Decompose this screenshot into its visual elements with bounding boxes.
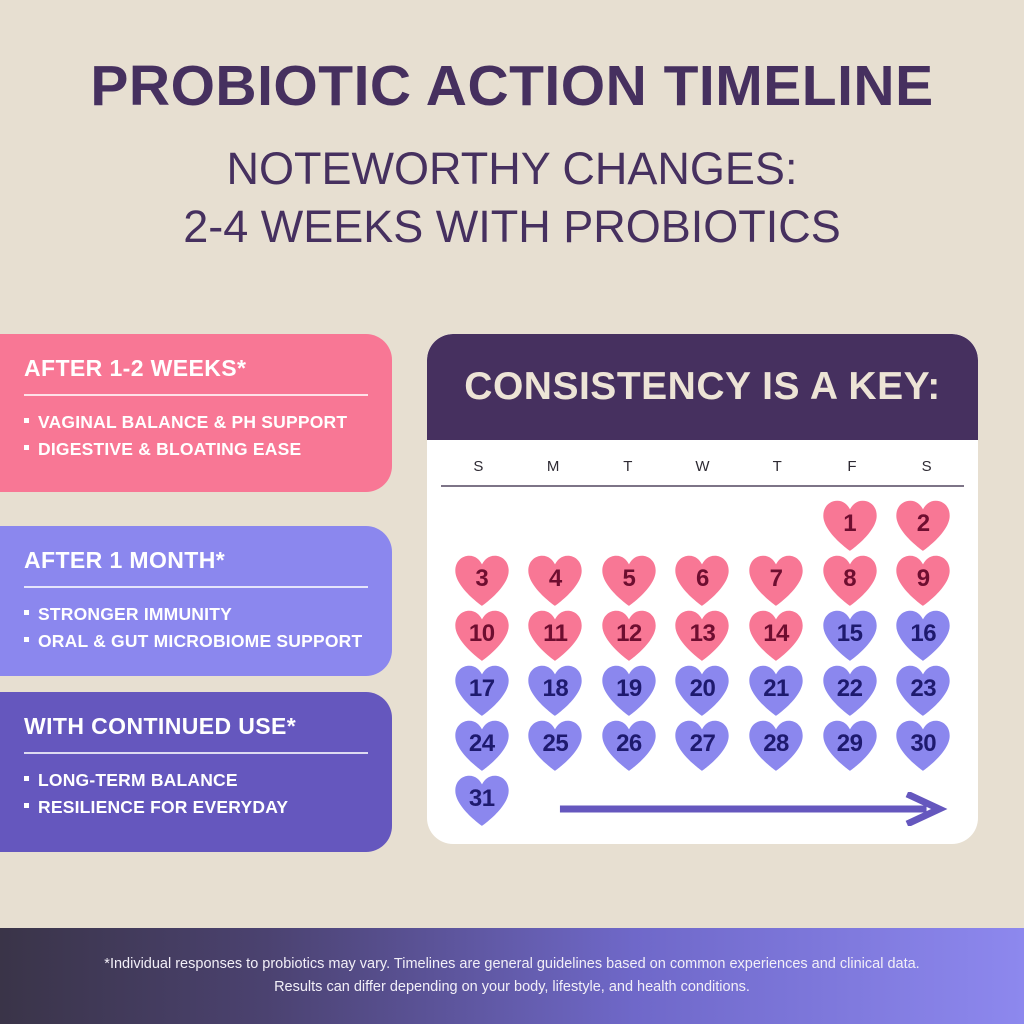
list-item: LONG-TERM BALANCE xyxy=(24,767,392,794)
disclaimer-text: *Individual responses to probiotics may … xyxy=(104,953,919,1000)
calendar-day-cell[interactable]: 24 xyxy=(445,719,519,772)
heart-icon-day-16: 16 xyxy=(894,609,952,662)
calendar-empty-cell xyxy=(445,499,519,552)
calendar-progress-row xyxy=(445,781,960,837)
calendar-day-number: 31 xyxy=(469,787,495,811)
card-title: WITH CONTINUED USE* xyxy=(24,714,392,739)
calendar-day-number: 23 xyxy=(910,677,936,701)
heart-icon-day-14: 14 xyxy=(747,609,805,662)
calendar-day-number: 30 xyxy=(910,732,936,756)
calendar-day-cell[interactable]: 27 xyxy=(666,719,740,772)
calendar-day-cell[interactable]: 4 xyxy=(519,554,593,607)
calendar-weekday-row: SMTWTFS xyxy=(441,440,964,485)
calendar-day-cell[interactable]: 11 xyxy=(519,609,593,662)
heart-icon-day-12: 12 xyxy=(600,609,658,662)
calendar-panel-header: CONSISTENCY IS A KEY: xyxy=(427,334,978,440)
calendar-day-number: 24 xyxy=(469,732,495,756)
heart-icon-day-29: 29 xyxy=(821,719,879,772)
infographic-root: PROBIOTIC ACTION TIMELINE NOTEWORTHY CHA… xyxy=(0,0,1024,1024)
heart-icon-day-6: 6 xyxy=(673,554,731,607)
calendar-day-number: 15 xyxy=(837,622,863,646)
list-item: ORAL & GUT MICROBIOME SUPPORT xyxy=(24,628,392,655)
heart-icon-day-11: 11 xyxy=(526,609,584,662)
calendar-weekday-6: S xyxy=(889,458,964,475)
calendar-day-number: 17 xyxy=(469,677,495,701)
calendar-heading: CONSISTENCY IS A KEY: xyxy=(464,365,940,409)
calendar-day-number: 26 xyxy=(616,732,642,756)
heart-icon-day-18: 18 xyxy=(526,664,584,717)
heart-icon-day-2: 2 xyxy=(894,499,952,552)
footer-disclaimer: *Individual responses to probiotics may … xyxy=(0,928,1024,1024)
timeline-card-with-continued-use: WITH CONTINUED USE* LONG-TERM BALANCE RE… xyxy=(0,692,392,852)
card-divider xyxy=(24,586,368,588)
heart-icon-day-3: 3 xyxy=(453,554,511,607)
heart-icon-day-1: 1 xyxy=(821,499,879,552)
card-divider xyxy=(24,394,368,396)
calendar-day-cell[interactable]: 21 xyxy=(739,664,813,717)
calendar-empty-cell xyxy=(592,499,666,552)
page-title: PROBIOTIC ACTION TIMELINE xyxy=(0,58,1024,115)
calendar-weekday-4: T xyxy=(740,458,815,475)
calendar-empty-cell xyxy=(519,499,593,552)
calendar-day-number: 8 xyxy=(843,567,856,591)
calendar-empty-cell xyxy=(666,499,740,552)
calendar-day-cell[interactable]: 28 xyxy=(739,719,813,772)
calendar-day-number: 4 xyxy=(549,567,562,591)
calendar-weekday-1: M xyxy=(516,458,591,475)
list-item: VAGINAL BALANCE & PH SUPPORT xyxy=(24,409,392,436)
calendar-day-cell[interactable]: 7 xyxy=(739,554,813,607)
calendar-day-number: 2 xyxy=(917,512,930,536)
calendar-day-cell[interactable]: 2 xyxy=(886,499,960,552)
calendar-day-cell[interactable]: 5 xyxy=(592,554,666,607)
calendar-day-cell[interactable]: 10 xyxy=(445,609,519,662)
calendar-day-number: 14 xyxy=(763,622,789,646)
calendar-day-cell[interactable]: 19 xyxy=(592,664,666,717)
subtitle-line-1: NOTEWORTHY CHANGES: xyxy=(0,140,1024,198)
calendar-weekday-3: W xyxy=(665,458,740,475)
calendar-weekday-5: F xyxy=(815,458,890,475)
heart-icon-day-7: 7 xyxy=(747,554,805,607)
card-title: AFTER 1 MONTH* xyxy=(24,548,392,573)
calendar-day-number: 20 xyxy=(690,677,716,701)
heart-icon-day-4: 4 xyxy=(526,554,584,607)
calendar-day-number: 13 xyxy=(690,622,716,646)
heart-icon-day-21: 21 xyxy=(747,664,805,717)
calendar-day-cell[interactable]: 14 xyxy=(739,609,813,662)
heart-icon-day-9: 9 xyxy=(894,554,952,607)
heart-icon-day-22: 22 xyxy=(821,664,879,717)
calendar-day-cell[interactable]: 17 xyxy=(445,664,519,717)
calendar-day-cell[interactable]: 29 xyxy=(813,719,887,772)
calendar-day-number: 5 xyxy=(622,567,635,591)
heart-icon-day-26: 26 xyxy=(600,719,658,772)
list-item: RESILIENCE FOR EVERYDAY xyxy=(24,794,392,821)
heart-icon-day-15: 15 xyxy=(821,609,879,662)
heart-icon-day-13: 13 xyxy=(673,609,731,662)
calendar-empty-cell xyxy=(739,499,813,552)
calendar-day-cell[interactable]: 1 xyxy=(813,499,887,552)
calendar-panel: CONSISTENCY IS A KEY: SMTWTFS 1234567891… xyxy=(427,334,978,844)
heart-icon-day-27: 27 xyxy=(673,719,731,772)
calendar-day-number: 1 xyxy=(843,512,856,536)
card-title: AFTER 1-2 WEEKS* xyxy=(24,356,392,381)
timeline-card-after-1-2-weeks: AFTER 1-2 WEEKS* VAGINAL BALANCE & PH SU… xyxy=(0,334,392,492)
calendar-day-cell[interactable]: 13 xyxy=(666,609,740,662)
timeline-card-after-1-month: AFTER 1 MONTH* STRONGER IMMUNITY ORAL & … xyxy=(0,526,392,676)
calendar-day-number: 28 xyxy=(763,732,789,756)
calendar-day-cell[interactable]: 26 xyxy=(592,719,666,772)
disclaimer-line-2: Results can differ depending on your bod… xyxy=(104,976,919,999)
calendar-day-number: 6 xyxy=(696,567,709,591)
calendar-day-number: 25 xyxy=(542,732,568,756)
heart-icon-day-20: 20 xyxy=(673,664,731,717)
calendar-weekday-2: T xyxy=(590,458,665,475)
calendar-day-cell[interactable]: 16 xyxy=(886,609,960,662)
calendar-day-number: 7 xyxy=(770,567,783,591)
calendar-day-cell[interactable]: 23 xyxy=(886,664,960,717)
calendar-weekday-0: S xyxy=(441,458,516,475)
calendar-day-cell[interactable]: 25 xyxy=(519,719,593,772)
card-benefit-list: LONG-TERM BALANCE RESILIENCE FOR EVERYDA… xyxy=(24,767,392,821)
list-item: STRONGER IMMUNITY xyxy=(24,601,392,628)
calendar-day-number: 21 xyxy=(763,677,789,701)
calendar-day-cell[interactable]: 9 xyxy=(886,554,960,607)
heart-icon-day-8: 8 xyxy=(821,554,879,607)
calendar-day-cell[interactable]: 20 xyxy=(666,664,740,717)
calendar-day-cell[interactable]: 30 xyxy=(886,719,960,772)
disclaimer-line-1: *Individual responses to probiotics may … xyxy=(104,953,919,976)
calendar-day-number: 16 xyxy=(910,622,936,646)
heart-icon-day-17: 17 xyxy=(453,664,511,717)
subtitle-line-2: 2-4 WEEKS WITH PROBIOTICS xyxy=(0,198,1024,256)
calendar-day-number: 10 xyxy=(469,622,495,646)
calendar-weekday-divider xyxy=(441,485,964,487)
arrow-right-icon xyxy=(558,792,948,826)
calendar-day-cell[interactable]: 18 xyxy=(519,664,593,717)
card-benefit-list: VAGINAL BALANCE & PH SUPPORT DIGESTIVE &… xyxy=(24,409,392,463)
calendar-day-cell[interactable]: 12 xyxy=(592,609,666,662)
heart-icon-day-28: 28 xyxy=(747,719,805,772)
calendar-day-number: 9 xyxy=(917,567,930,591)
calendar-day-number: 22 xyxy=(837,677,863,701)
list-item: DIGESTIVE & BLOATING EASE xyxy=(24,436,392,463)
calendar-day-number: 18 xyxy=(542,677,568,701)
calendar-day-cell[interactable]: 15 xyxy=(813,609,887,662)
heart-icon-day-23: 23 xyxy=(894,664,952,717)
heart-icon-day-10: 10 xyxy=(453,609,511,662)
calendar-day-number: 3 xyxy=(475,567,488,591)
calendar-day-cell[interactable]: 8 xyxy=(813,554,887,607)
heart-icon-day-24: 24 xyxy=(453,719,511,772)
calendar-day-number: 19 xyxy=(616,677,642,701)
heart-icon-day-30: 30 xyxy=(894,719,952,772)
calendar-day-cell[interactable]: 22 xyxy=(813,664,887,717)
calendar-day-number: 27 xyxy=(690,732,716,756)
heart-icon-day-25: 25 xyxy=(526,719,584,772)
heart-icon-day-19: 19 xyxy=(600,664,658,717)
calendar-day-cell[interactable]: 3 xyxy=(445,554,519,607)
calendar-day-number: 29 xyxy=(837,732,863,756)
card-divider xyxy=(24,752,368,754)
card-benefit-list: STRONGER IMMUNITY ORAL & GUT MICROBIOME … xyxy=(24,601,392,655)
heart-icon-day-5: 5 xyxy=(600,554,658,607)
calendar-day-number: 11 xyxy=(543,622,567,646)
calendar-day-number: 12 xyxy=(616,622,642,646)
calendar-day-grid: 1234567891011121314151617181920212223242… xyxy=(445,499,960,827)
page-subtitle: NOTEWORTHY CHANGES: 2-4 WEEKS WITH PROBI… xyxy=(0,140,1024,255)
calendar-day-cell[interactable]: 6 xyxy=(666,554,740,607)
